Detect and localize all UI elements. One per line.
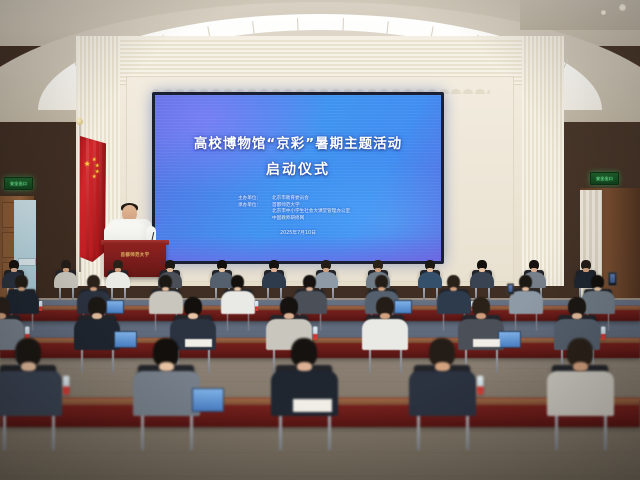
- flag-star-icon: ★: [92, 175, 96, 180]
- audience-person-neck: [583, 268, 588, 271]
- audience-person-body: [149, 291, 183, 313]
- audience-person-body: [409, 371, 476, 416]
- audience-person-neck: [573, 362, 587, 371]
- downlight-icon: [619, 4, 626, 11]
- laptop-screen[interactable]: [498, 331, 521, 348]
- smartphone-camera[interactable]: [507, 283, 514, 294]
- exit-sign-right-text: 安全出口: [596, 176, 613, 182]
- water-bottle: [477, 376, 483, 395]
- audience-person-neck: [92, 313, 102, 319]
- podium-nameplate: 首都师范大学: [104, 252, 166, 258]
- audience-person-body: [210, 272, 234, 288]
- audience-person-neck: [167, 268, 172, 271]
- audience-person-body: [221, 291, 255, 313]
- audience-person-neck: [380, 313, 390, 319]
- audience-person-body: [293, 291, 327, 313]
- audience-person-neck: [297, 362, 311, 371]
- audience-person-neck: [375, 268, 380, 271]
- audience-person-neck: [476, 313, 486, 319]
- audience-person-neck: [427, 268, 432, 271]
- audience-person-body: [314, 272, 338, 288]
- flag-finial-icon: [76, 118, 83, 125]
- paper-document: [473, 339, 500, 347]
- paper-document: [185, 339, 212, 347]
- paper-document: [293, 399, 332, 411]
- stage-column-right: [522, 36, 564, 286]
- water-bottle: [39, 301, 42, 311]
- audience-person-neck: [572, 313, 582, 319]
- laptop-screen[interactable]: [106, 300, 123, 313]
- audience-person-body: [133, 371, 200, 416]
- audience-person-neck: [435, 362, 449, 371]
- audience-person-neck: [188, 313, 198, 319]
- audience-person-body: [581, 291, 615, 313]
- water-bottle: [601, 327, 606, 341]
- water-bottle: [63, 376, 69, 395]
- audience-person-body: [54, 272, 78, 288]
- audience-person-body: [74, 319, 120, 349]
- audience-person-body: [262, 272, 286, 288]
- audience-person-body: [470, 272, 494, 288]
- audience-person-neck: [284, 313, 294, 319]
- laptop-screen[interactable]: [192, 388, 225, 412]
- phone-screen: [508, 285, 512, 292]
- floor-plank: [0, 476, 640, 477]
- audience-person-body: [509, 291, 543, 313]
- audience-person-neck: [219, 268, 224, 271]
- exit-sign-right: 安全出口: [590, 172, 619, 185]
- audience-person-neck: [63, 268, 68, 271]
- conference-hall-photo: 高校博物馆“京彩”暑期主题活动 启动仪式 主办单位： 北京市教育委员会 承办单位…: [0, 0, 640, 480]
- audience-person-neck: [11, 268, 16, 271]
- laptop-screen[interactable]: [394, 300, 411, 313]
- projection-screen: 高校博物馆“京彩”暑期主题活动 启动仪式 主办单位： 北京市教育委员会 承办单位…: [155, 95, 441, 261]
- audience-person-body: [0, 371, 62, 416]
- exit-sign-left-text: 安全出口: [10, 181, 27, 187]
- audience-person-body: [362, 319, 408, 349]
- water-bottle: [255, 301, 258, 311]
- audience-person-neck: [21, 362, 35, 371]
- audience-person-neck: [159, 362, 173, 371]
- phone-screen: [610, 274, 615, 283]
- audience-person-neck: [115, 268, 120, 271]
- audience-person-body: [5, 291, 39, 313]
- audience-person-body: [418, 272, 442, 288]
- audience-person-neck: [323, 268, 328, 271]
- floor-plank: [0, 431, 640, 432]
- audience-person-body: [547, 371, 614, 416]
- downlight-icon: [601, 10, 606, 15]
- laptop-screen[interactable]: [114, 331, 137, 348]
- audience-person-neck: [271, 268, 276, 271]
- exit-sign-left: 安全出口: [4, 177, 33, 190]
- flag-star-large-icon: ★: [84, 162, 90, 167]
- audience-person-neck: [531, 268, 536, 271]
- smartphone-camera[interactable]: [608, 272, 617, 286]
- screen-scanlines: [155, 95, 441, 261]
- wall-sign-left: [18, 258, 36, 266]
- audience-person-body: [106, 272, 130, 288]
- water-bottle: [313, 327, 318, 341]
- audience-person-body: [437, 291, 471, 313]
- floor-plank: [0, 452, 640, 453]
- audience-person-neck: [479, 268, 484, 271]
